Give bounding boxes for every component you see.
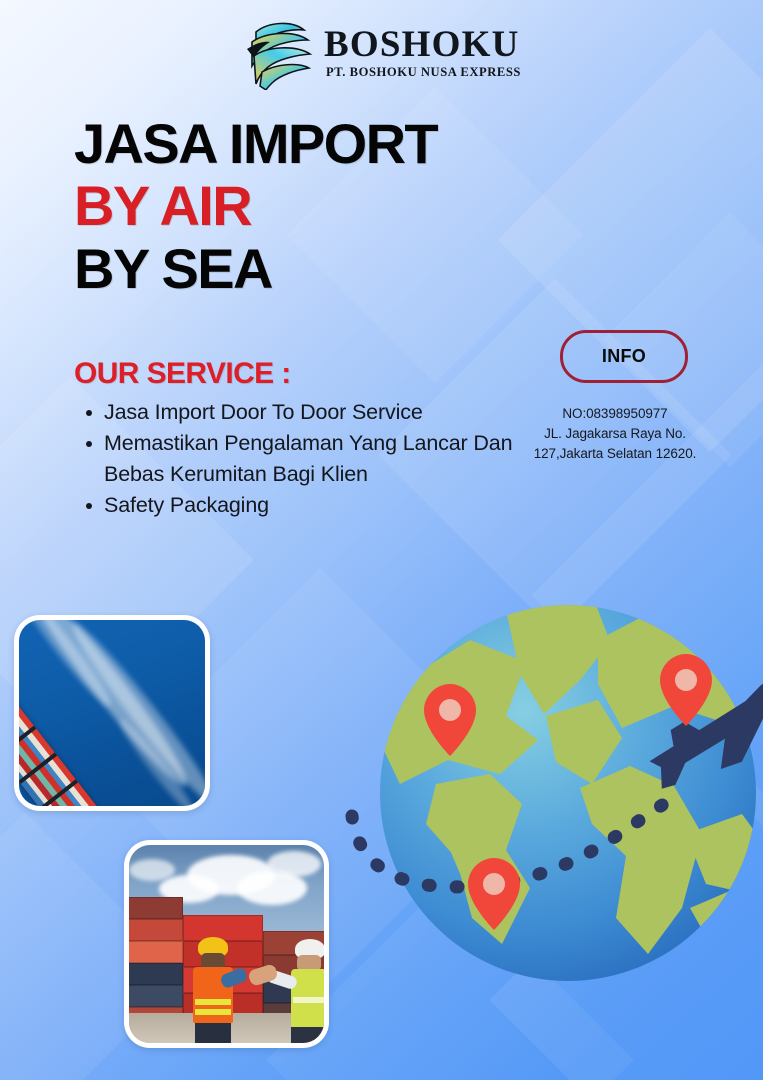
brand-header: BOSHOKU PT. BOSHOKU NUSA EXPRESS [0,16,763,90]
headline-block: JASA IMPORT BY AIR BY SEA [74,116,437,296]
info-button-label: INFO [602,346,646,367]
poster-canvas: BOSHOKU PT. BOSHOKU NUSA EXPRESS JASA IM… [0,0,763,1080]
workers-photo [129,845,324,1043]
ship-photo [19,620,205,806]
list-item: Jasa Import Door To Door Service [74,397,544,428]
contact-block: NO:08398950977 JL. Jagakarsa Raya No. 12… [480,404,750,464]
brand-name: BOSHOKU [324,26,520,63]
headline-line-3: BY SEA [74,241,437,296]
ship-photo-card [14,615,210,811]
globe-illustration [330,588,763,998]
boshoku-wing-logo-icon [242,16,318,90]
our-service-block: OUR SERVICE : Jasa Import Door To Door S… [74,358,544,522]
our-service-title: OUR SERVICE : [74,358,544,390]
workers-photo-card [124,840,329,1048]
headline-line-1: JASA IMPORT [74,116,437,171]
list-item: Memastikan Pengalaman Yang Lancar Dan Be… [74,428,544,489]
info-button[interactable]: INFO [560,330,688,383]
contact-address-line-2: 127,Jakarta Selatan 12620. [480,444,750,464]
headline-line-2: BY AIR [74,178,437,233]
contact-phone: NO:08398950977 [480,404,750,424]
brand-tagline: PT. BOSHOKU NUSA EXPRESS [324,65,521,80]
contact-address-line-1: JL. Jagakarsa Raya No. [480,424,750,444]
service-list: Jasa Import Door To Door Service Memasti… [74,397,544,521]
list-item: Safety Packaging [74,490,544,521]
